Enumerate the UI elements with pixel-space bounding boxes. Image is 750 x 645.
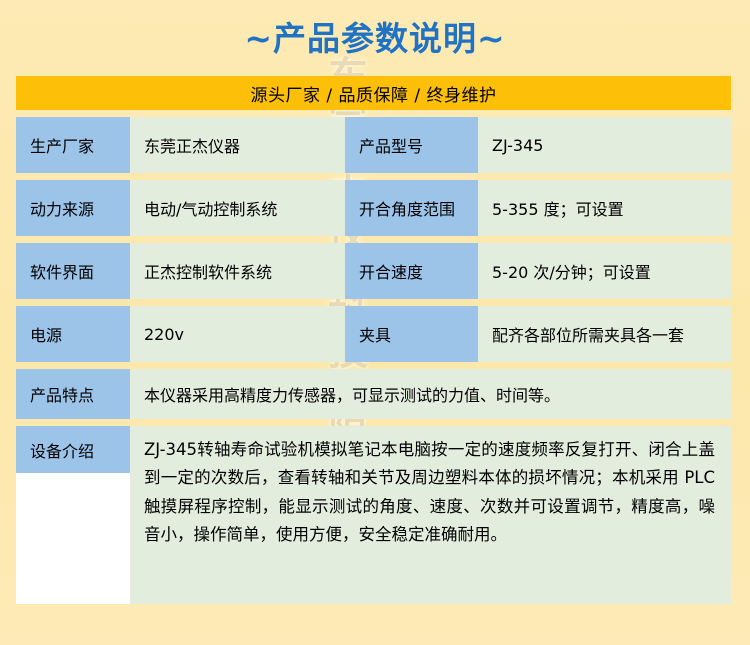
- promo-banner: 源头厂家 / 品质保障 / 终身维护: [16, 76, 731, 110]
- row-value-angle-range: 5-355 度；可设置: [478, 180, 731, 236]
- table-row: 软件界面 正杰控制软件系统 开合速度 5-20 次/分钟；可设置: [16, 243, 731, 299]
- row-label-voltage: 电源: [16, 306, 130, 362]
- row-value-speed: 5-20 次/分钟；可设置: [478, 243, 731, 299]
- table-row: 设备介绍 ZJ-345转轴寿命试验机模拟笔记本电脑按一定的速度频率反复打开、闭合…: [16, 426, 731, 604]
- row-value-manufacturer: 东莞正杰仪器: [130, 117, 345, 173]
- row-value-software: 正杰控制软件系统: [130, 243, 345, 299]
- row-label-angle-range: 开合角度范围: [345, 180, 478, 236]
- spec-table: 源头厂家 / 品质保障 / 终身维护 生产厂家 东莞正杰仪器 产品型号 ZJ-3…: [16, 76, 731, 604]
- table-row: 动力来源 电动/气动控制系统 开合角度范围 5-355 度；可设置: [16, 180, 731, 236]
- product-spec-page: 东莞正杰仪器科技有限公司 ~产品参数说明~ 源头厂家 / 品质保障 / 终身维护…: [0, 0, 750, 645]
- row-label-model: 产品型号: [345, 117, 478, 173]
- row-label-power-source: 动力来源: [16, 180, 130, 236]
- row-label-manufacturer: 生产厂家: [16, 117, 130, 173]
- row-label-fixture: 夹具: [345, 306, 478, 362]
- table-row: 生产厂家 东莞正杰仪器 产品型号 ZJ-345: [16, 117, 731, 173]
- row-label-features: 产品特点: [16, 369, 130, 419]
- page-title-area: ~产品参数说明~: [0, 12, 750, 60]
- row-label-intro: 设备介绍: [16, 426, 130, 473]
- row-value-power-source: 电动/气动控制系统: [130, 180, 345, 236]
- page-title: ~产品参数说明~: [244, 12, 505, 60]
- row-label-intro-block: 设备介绍: [16, 426, 130, 604]
- row-value-features: 本仪器采用高精度力传感器，可显示测试的力值、时间等。: [130, 369, 731, 419]
- promo-banner-text: 源头厂家 / 品质保障 / 终身维护: [250, 81, 496, 106]
- row-value-model: ZJ-345: [478, 117, 731, 173]
- row-label-speed: 开合速度: [345, 243, 478, 299]
- row-value-fixture: 配齐各部位所需夹具各一套: [478, 306, 731, 362]
- row-label-software: 软件界面: [16, 243, 130, 299]
- table-row: 产品特点 本仪器采用高精度力传感器，可显示测试的力值、时间等。: [16, 369, 731, 419]
- row-value-voltage: 220v: [130, 306, 345, 362]
- row-value-intro: ZJ-345转轴寿命试验机模拟笔记本电脑按一定的速度频率反复打开、闭合上盖到一定…: [130, 426, 731, 604]
- table-row: 电源 220v 夹具 配齐各部位所需夹具各一套: [16, 306, 731, 362]
